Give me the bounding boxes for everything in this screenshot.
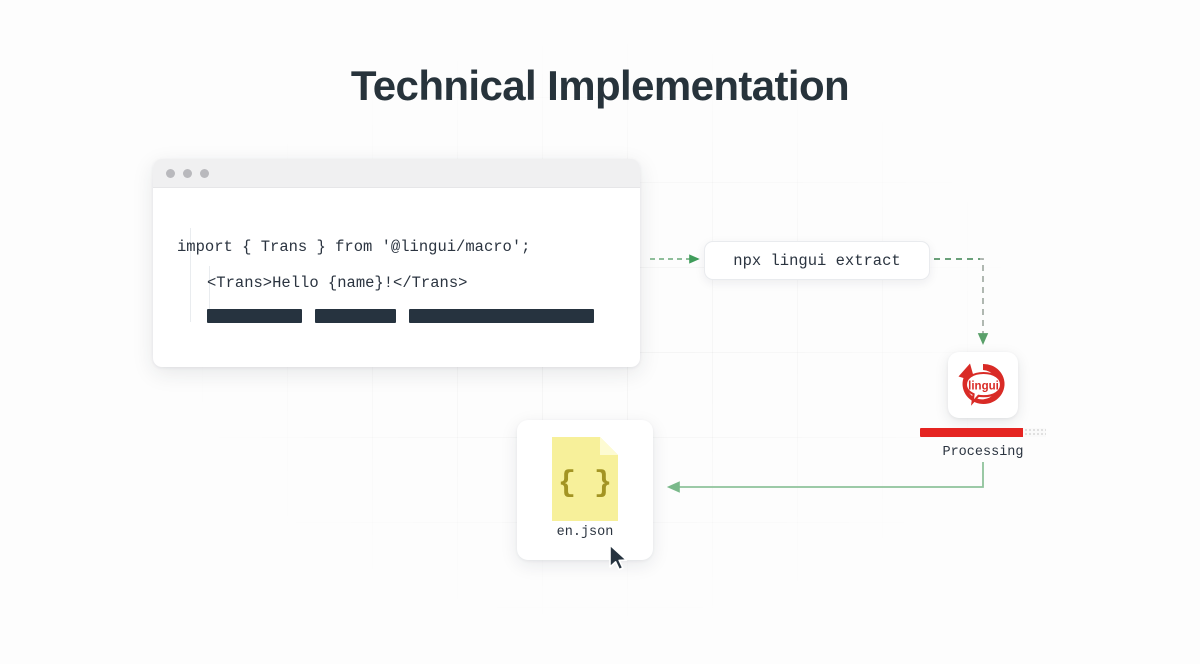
diagram-canvas: Technical Implementation import { Trans … xyxy=(0,0,1200,664)
lingui-logo-icon: lingui xyxy=(957,360,1009,410)
status-label: Processing xyxy=(900,445,1066,460)
redacted-line-2 xyxy=(315,309,396,323)
output-file-card[interactable]: { } en.json xyxy=(517,420,653,560)
json-file-icon: { } xyxy=(552,437,618,526)
code-editor-window: import { Trans } from '@lingui/macro'; <… xyxy=(153,159,640,367)
lingui-logo-card: lingui xyxy=(948,352,1018,418)
command-pill[interactable]: npx lingui extract xyxy=(704,241,930,280)
code-body: import { Trans } from '@lingui/macro'; <… xyxy=(153,188,640,367)
progress-fill xyxy=(920,428,1023,437)
window-minimize-dot-icon[interactable] xyxy=(183,169,192,178)
brace-glyph: { } xyxy=(558,467,612,501)
mouse-pointer-icon xyxy=(608,544,632,576)
command-to-processor-arrow xyxy=(934,259,983,343)
progress-track xyxy=(920,428,1046,437)
code-line-import: import { Trans } from '@lingui/macro'; xyxy=(177,240,530,256)
window-maximize-dot-icon[interactable] xyxy=(200,169,209,178)
processor-to-file-arrow xyxy=(669,462,983,487)
window-close-dot-icon[interactable] xyxy=(166,169,175,178)
redacted-line-3 xyxy=(409,309,594,323)
command-text: npx lingui extract xyxy=(733,252,900,270)
code-line-trans: <Trans>Hello {name}!</Trans> xyxy=(207,276,467,292)
window-titlebar xyxy=(153,159,640,188)
page-title: Technical Implementation xyxy=(0,62,1200,110)
lingui-wordmark: lingui xyxy=(968,381,999,393)
redacted-line-1 xyxy=(207,309,302,323)
file-name-label: en.json xyxy=(517,525,653,540)
